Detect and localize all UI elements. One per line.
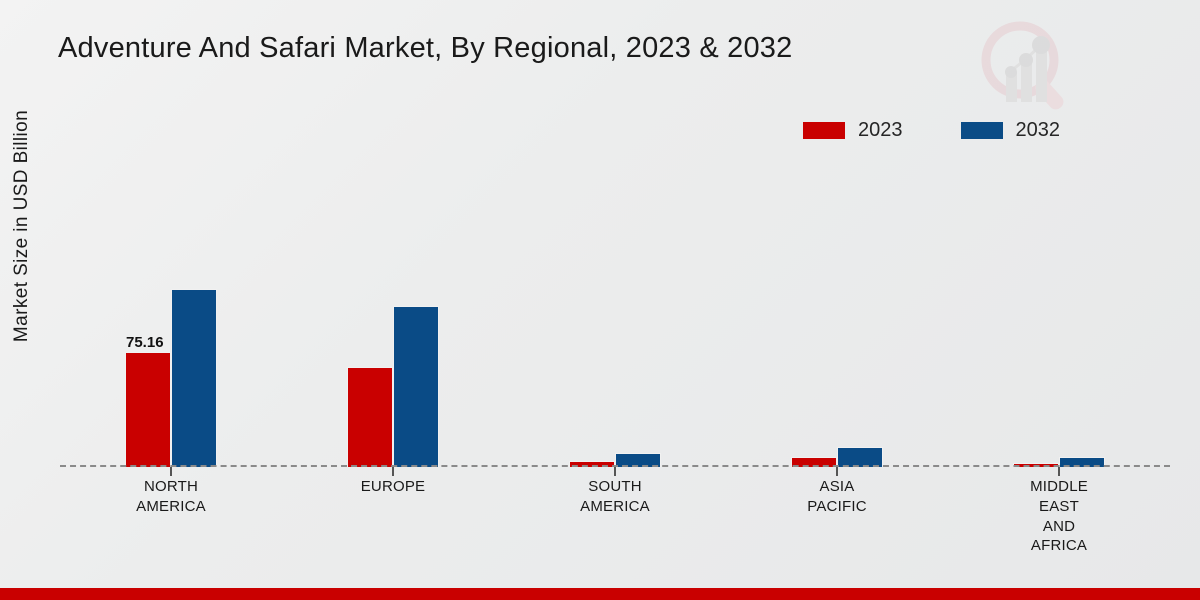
bar-2032[interactable] — [393, 306, 439, 467]
legend-swatch-2023 — [803, 122, 845, 139]
y-axis-title: Market Size in USD Billion — [11, 56, 33, 396]
legend-item-2032[interactable]: 2032 — [961, 119, 1061, 142]
bar-pair — [569, 160, 661, 467]
x-axis-tick — [170, 467, 172, 476]
watermark-logo — [970, 10, 1082, 118]
x-axis-tick — [392, 467, 394, 476]
bar-2032[interactable] — [171, 289, 217, 467]
bar-group: SOUTH AMERICA — [504, 160, 726, 467]
x-axis-tick — [614, 467, 616, 476]
x-axis-category-label: ASIA PACIFIC — [807, 477, 866, 517]
plot-area: 75.16NORTH AMERICAEUROPESOUTH AMERICAASI… — [60, 160, 1170, 467]
bar-2032[interactable] — [837, 447, 883, 467]
chart-title: Adventure And Safari Market, By Regional… — [58, 32, 792, 65]
x-axis-tick — [1058, 467, 1060, 476]
bar-value-label: 75.16 — [126, 334, 164, 351]
bar-group: MIDDLE EAST AND AFRICA — [948, 160, 1170, 467]
bar-2023[interactable] — [347, 367, 393, 467]
legend-label-2032: 2032 — [1016, 119, 1061, 142]
bar-group: ASIA PACIFIC — [726, 160, 948, 467]
chart-legend: 2023 2032 — [803, 119, 1060, 142]
legend-item-2023[interactable]: 2023 — [803, 119, 903, 142]
x-axis-baseline — [60, 465, 1170, 467]
bar-pair — [791, 160, 883, 467]
chart-root: Adventure And Safari Market, By Regional… — [0, 0, 1200, 600]
bar-pair — [347, 160, 439, 467]
legend-label-2023: 2023 — [858, 119, 903, 142]
legend-swatch-2032 — [961, 122, 1003, 139]
bar-pair: 75.16 — [125, 160, 217, 467]
x-axis-category-label: EUROPE — [361, 477, 426, 497]
x-axis-category-label: SOUTH AMERICA — [580, 477, 650, 517]
bar-pair — [1013, 160, 1105, 467]
bar-group: EUROPE — [282, 160, 504, 467]
x-axis-category-label: NORTH AMERICA — [136, 477, 206, 517]
bar-2023[interactable]: 75.16 — [125, 352, 171, 467]
bar-groups: 75.16NORTH AMERICAEUROPESOUTH AMERICAASI… — [60, 160, 1170, 467]
bar-group: 75.16NORTH AMERICA — [60, 160, 282, 467]
x-axis-category-label: MIDDLE EAST AND AFRICA — [1030, 477, 1088, 556]
bottom-accent-strip — [0, 588, 1200, 600]
x-axis-tick — [836, 467, 838, 476]
